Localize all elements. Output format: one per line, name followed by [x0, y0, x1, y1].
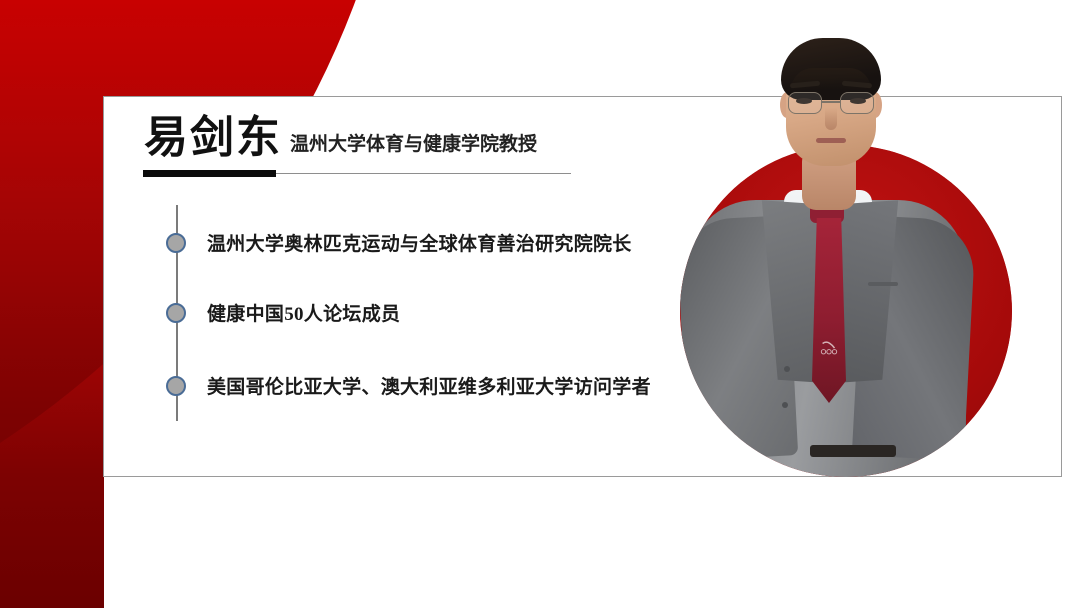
heading-rule — [143, 170, 571, 178]
nose — [825, 108, 837, 130]
glasses-lens-left — [788, 92, 822, 114]
portrait-figure — [660, 30, 1040, 480]
credential-item: 健康中国50人论坛成员 — [207, 299, 400, 326]
bullet-dot-icon — [166, 303, 186, 323]
person-name: 易剑东 — [144, 113, 282, 162]
credential-item: 温州大学奥林匹克运动与全球体育善治研究院院长 — [207, 229, 632, 256]
glasses-lens-right — [840, 92, 874, 114]
heading-block: 易剑东温州大学体育与健康学院教授 — [144, 113, 624, 162]
mouth — [816, 138, 846, 143]
suit-button — [784, 366, 790, 372]
glasses-bridge — [822, 101, 840, 103]
hair — [781, 38, 881, 100]
olympic-emblem-icon — [818, 338, 840, 360]
slide-root: 易剑东温州大学体育与健康学院教授 温州大学奥林匹克运动与全球体育善治研究院院长 … — [0, 0, 1080, 608]
necktie — [812, 218, 846, 403]
bullet-dot-icon — [166, 233, 186, 253]
heading-rule-thick — [143, 170, 276, 177]
portrait-photo — [660, 30, 1040, 480]
suit-pocket — [868, 282, 898, 286]
credential-item: 美国哥伦比亚大学、澳大利亚维多利亚大学访问学者 — [207, 372, 651, 399]
credential-timeline — [175, 205, 179, 421]
belt — [810, 445, 896, 457]
suit-button — [782, 402, 788, 408]
bullet-dot-icon — [166, 376, 186, 396]
person-role: 温州大学体育与健康学院教授 — [282, 129, 537, 156]
